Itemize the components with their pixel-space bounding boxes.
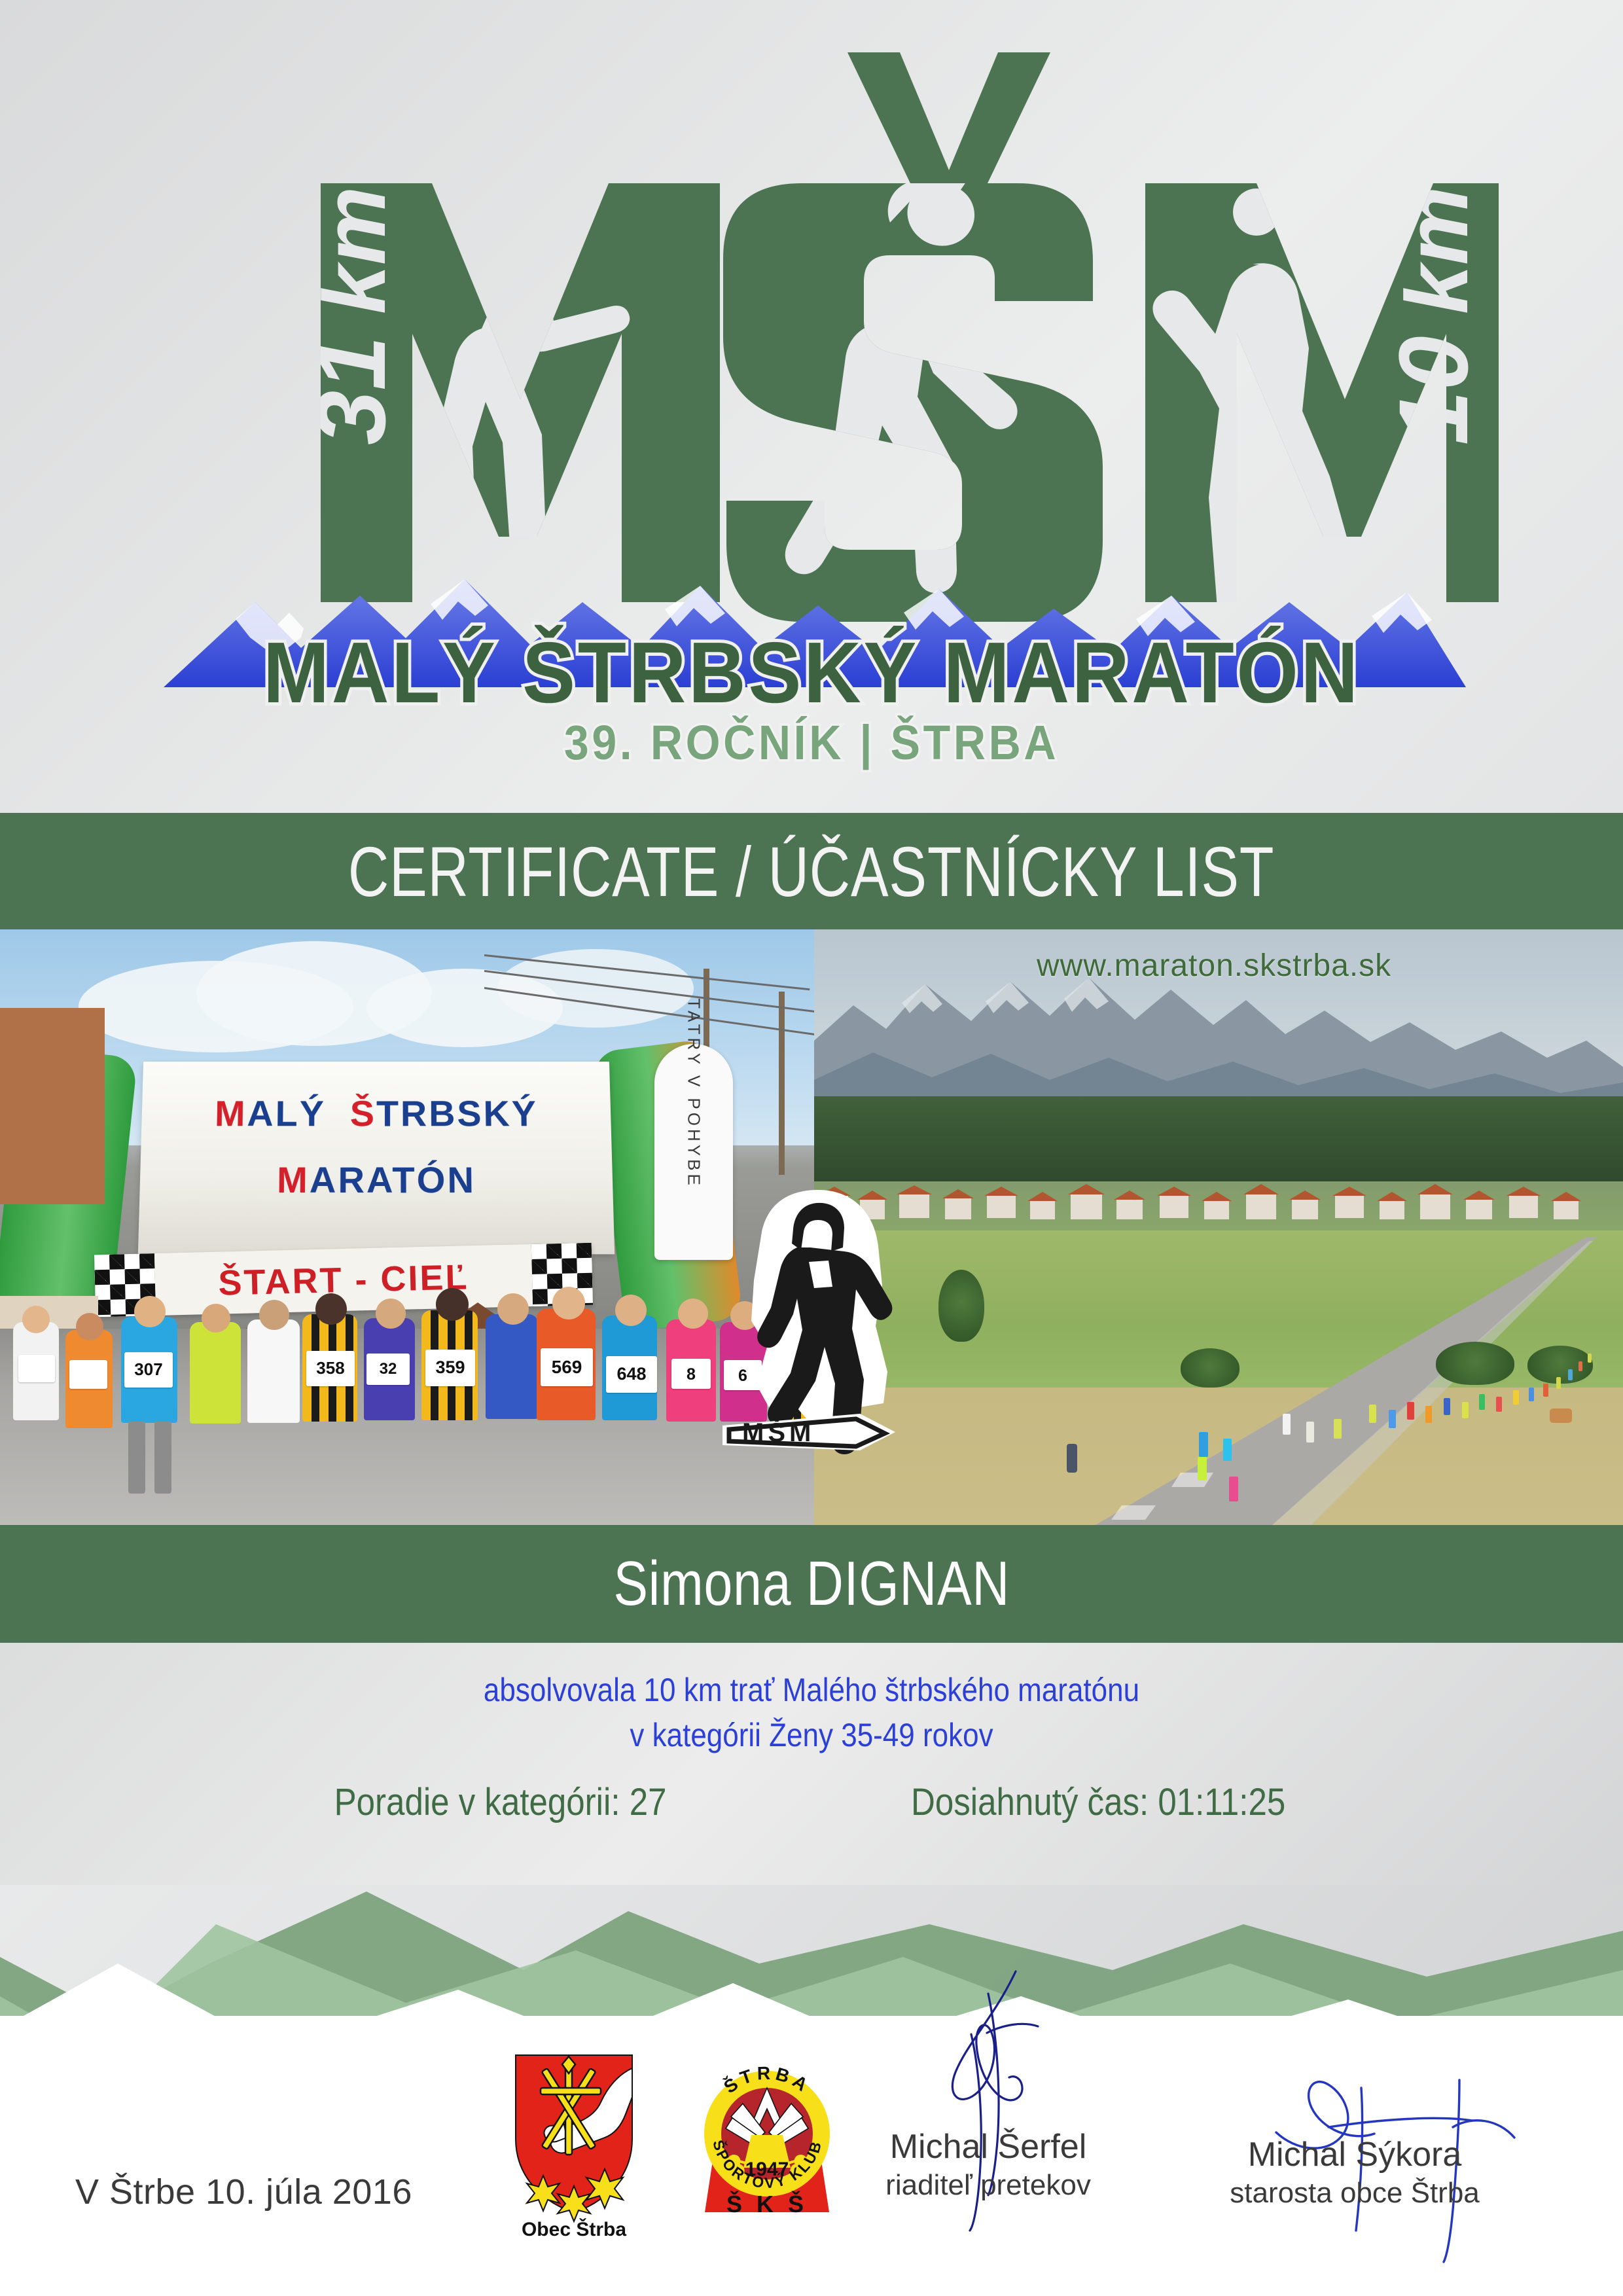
utility-pole: [779, 992, 785, 1175]
runner-bib-648: 648: [606, 1356, 657, 1393]
arch-text-s: Š: [350, 1093, 376, 1134]
course-runner: [1223, 1439, 1232, 1461]
arch-text-trbsky: TRBSKÝ: [376, 1093, 539, 1134]
participant-name: Simona DIGNAN: [613, 1548, 1010, 1620]
runner-bib-569: 569: [541, 1348, 593, 1386]
runner-head: [259, 1300, 289, 1330]
msm-runner-sticker: MŠM: [720, 1185, 916, 1460]
signatory-role: starosta obce Štrba: [1198, 2177, 1512, 2210]
club-bottom-text: Š K Š: [726, 2190, 808, 2217]
cow: [1550, 1408, 1572, 1423]
arch-text-araton: ARATÓN: [310, 1159, 476, 1200]
svg-text:km: km: [305, 187, 404, 314]
runner-head: [134, 1296, 166, 1327]
course-runner: [1425, 1406, 1432, 1423]
runner-bib-359: 359: [425, 1350, 475, 1386]
course-runner: [1229, 1477, 1238, 1501]
runner-head: [678, 1299, 708, 1329]
course-runner: [1369, 1405, 1376, 1423]
runner-head: [497, 1293, 529, 1325]
achievement-text: absolvovala 10 km trať Malého štrbského …: [0, 1668, 1623, 1758]
village: [814, 1162, 1623, 1237]
course-landscape-photo: www.maraton.skstrba.sk: [814, 929, 1623, 1525]
signatory-name: Michal Šerfel: [851, 2127, 1126, 2166]
spectator: [1199, 1432, 1208, 1457]
participant-name-band: Simona DIGNAN: [0, 1525, 1623, 1643]
course-runner: [1543, 1384, 1548, 1397]
course-runner: [1588, 1354, 1592, 1363]
course-runner: [1283, 1414, 1291, 1435]
achievement-block: absolvovala 10 km trať Malého štrbského …: [0, 1643, 1623, 1885]
signatory-name: Michal Sýkora: [1198, 2135, 1512, 2174]
runner-head: [315, 1293, 347, 1325]
arch-text-m2: M: [277, 1159, 310, 1200]
course-runner: [1529, 1388, 1534, 1401]
category-rank: Poradie v kategórii: 27: [334, 1780, 667, 1824]
sks-strba-club-emblem: ŠTRBA ŠPORTOVÝ KLUB 1947 Š K Š: [684, 2041, 851, 2237]
runner-head: [202, 1304, 230, 1333]
runner-head: [76, 1313, 103, 1340]
course-runner: [1578, 1361, 1582, 1371]
house-roof: [0, 1008, 105, 1204]
runner-bib: [18, 1355, 55, 1382]
arch-text-m1: M: [214, 1093, 247, 1134]
runner-head: [436, 1288, 469, 1321]
website-url: www.maraton.skstrba.sk: [1037, 948, 1391, 984]
runner: [247, 1319, 300, 1423]
sticker-label: MŠM: [742, 1417, 815, 1447]
spectator: [1067, 1444, 1077, 1473]
certificate-title-band: CERTIFICATE / ÚČASTNÍCKY LIST: [0, 813, 1623, 929]
crest-caption: Obec Štrba: [522, 2218, 626, 2240]
start-line-photo: MALÝ ŠTRBSKÝ MARATÓN ŠTART - CIEĽ TATRY …: [0, 929, 814, 1525]
runner-bib-307: 307: [124, 1352, 173, 1388]
runner-leg: [128, 1422, 145, 1494]
runner-head: [615, 1295, 647, 1326]
course-runner: [1568, 1369, 1573, 1380]
course-runner: [1556, 1377, 1561, 1389]
course-runner: [1444, 1398, 1450, 1415]
achievement-line-2: v kategórii Ženy 35-49 rokov: [98, 1713, 1525, 1758]
certificate-title: CERTIFICATE / ÚČASTNÍCKY LIST: [348, 831, 1274, 912]
course-runner: [1334, 1419, 1342, 1439]
cloud: [497, 949, 694, 1028]
course-runner: [1306, 1422, 1314, 1443]
runner-head: [552, 1287, 585, 1319]
certificate-page: 31 km 10 km: [0, 0, 1623, 2296]
runner: [190, 1322, 241, 1424]
signature-ink-serfel: [916, 1970, 1152, 2245]
course-runner: [1462, 1402, 1469, 1418]
event-subtitle: 39. ROČNÍK | ŠTRBA: [564, 715, 1059, 770]
runner-head: [376, 1299, 406, 1329]
results-row: Poradie v kategórii: 27 Dosiahnutý čas: …: [0, 1780, 1623, 1824]
course-runner: [1407, 1402, 1414, 1420]
arch-banner: MALÝ ŠTRBSKÝ MARATÓN: [138, 1062, 615, 1254]
svg-text:km: km: [1387, 187, 1486, 314]
event-logo-block: 31 km 10 km: [0, 0, 1623, 813]
club-year: 1947: [745, 2159, 789, 2180]
arch-text-aly: ALÝ: [247, 1093, 326, 1134]
flag-banner-text: TATRY V POHYBE: [684, 998, 704, 1189]
event-title: MALÝ ŠTRBSKÝ MARATÓN: [263, 623, 1361, 722]
runner-bib-8: 8: [671, 1359, 711, 1389]
finish-time: Dosiahnutý čas: 01:11:25: [911, 1780, 1285, 1824]
tree: [938, 1270, 984, 1342]
obec-strba-crest: Obec Štrba: [504, 2047, 645, 2244]
tree: [1181, 1348, 1240, 1388]
runner-bib: [69, 1360, 107, 1389]
runner-bib-358: 358: [306, 1351, 355, 1386]
signature-sykora: Michal Sýkora starosta obce Štrba: [1198, 2135, 1512, 2210]
course-runner: [1479, 1394, 1485, 1410]
signatory-role: riaditeľ pretekov: [851, 2169, 1126, 2202]
runner-head: [22, 1306, 50, 1333]
runner-leg: [154, 1422, 171, 1494]
course-runner: [1198, 1457, 1207, 1480]
course-runner: [1389, 1410, 1396, 1428]
runner-bib-32: 32: [366, 1354, 410, 1385]
course-runner: [1513, 1390, 1519, 1405]
course-runner: [1496, 1397, 1502, 1412]
start-finish-label: ŠTART - CIEĽ: [218, 1257, 469, 1303]
svg-text:31: 31: [296, 336, 406, 445]
place-date: V Štrbe 10. júla 2016: [75, 2172, 412, 2212]
tree: [1436, 1342, 1514, 1385]
signature-serfel: Michal Šerfel riaditeľ pretekov: [851, 2127, 1126, 2202]
svg-text:10: 10: [1378, 336, 1488, 445]
runner: [486, 1314, 538, 1419]
achievement-line-1: absolvovala 10 km trať Malého štrbského …: [98, 1668, 1525, 1713]
